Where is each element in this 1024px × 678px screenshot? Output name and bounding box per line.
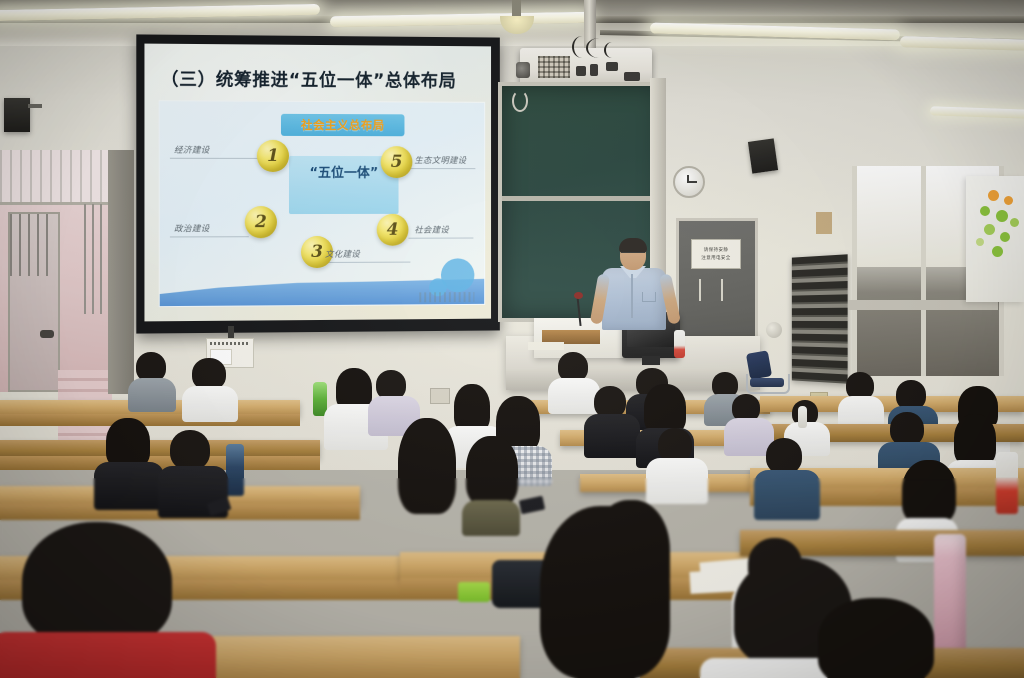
student-head <box>22 522 172 646</box>
slide-banner: 社会主义总布局 <box>281 114 405 136</box>
slide-center-label: “五位一体” <box>309 162 378 181</box>
student-head <box>766 438 802 474</box>
poster-dot <box>984 224 995 235</box>
slide-diagram: 社会主义总布局 “五位一体” 1 2 3 4 <box>159 100 485 307</box>
left-doorway[interactable] <box>0 150 116 392</box>
student-head <box>106 418 150 468</box>
poster-dot <box>996 210 1008 222</box>
wall-poster <box>966 176 1024 302</box>
student-head <box>398 418 456 514</box>
diagram-node-number: 1 <box>267 146 279 166</box>
sign-bracket <box>228 326 234 338</box>
student-torso <box>584 414 640 458</box>
gear-icon <box>445 262 471 288</box>
diagram-label-2: 政治建设 <box>174 222 210 234</box>
pipe-knob <box>766 322 782 338</box>
student-head <box>954 414 996 466</box>
projector-port <box>576 66 586 76</box>
projector-port <box>590 64 598 76</box>
green-tag <box>458 582 490 602</box>
student-torso <box>94 462 164 510</box>
poster-dot <box>988 190 999 201</box>
student-head <box>644 384 686 434</box>
door-sign-line-2: 注意用电安全 <box>701 255 730 261</box>
student-head <box>466 436 518 506</box>
glasses-icon <box>621 252 645 258</box>
diagram-leader-line <box>408 238 473 239</box>
wall-louver-vent <box>792 254 848 383</box>
doorway-grille-transom <box>0 150 112 205</box>
projector-vent <box>538 56 570 78</box>
window-mullion <box>921 166 926 376</box>
monitor-stand <box>642 356 660 365</box>
speaker-icon <box>748 138 778 173</box>
speaker-bracket <box>28 104 42 108</box>
bench-face <box>0 414 300 426</box>
poster-dot <box>976 238 984 246</box>
projection-screen: （三）统筹推进“五位一体”总体布局 社会主义总布局 “五位一体” 1 2 <box>136 34 500 333</box>
diagram-label-5: 生态文明建设 <box>414 154 466 166</box>
student-head <box>540 506 670 678</box>
poster-dot <box>1000 232 1010 242</box>
door-handle[interactable] <box>699 279 701 301</box>
door-handle[interactable] <box>40 330 54 338</box>
door-security-bars <box>10 214 54 276</box>
diagram-node-5: 5 <box>381 146 413 178</box>
diagram-label-1: 经济建设 <box>174 144 210 156</box>
chair-back <box>746 350 772 379</box>
diagram-node-2: 2 <box>245 206 277 238</box>
wall-column <box>108 150 134 394</box>
lecturer <box>596 240 676 340</box>
diagram-node-4: 4 <box>377 214 409 246</box>
office-chair[interactable] <box>742 352 786 396</box>
diagram-label-3: 文化建设 <box>325 248 360 260</box>
student-head <box>902 460 956 524</box>
slide-watermark-logo <box>419 292 474 302</box>
smartphone[interactable] <box>519 496 545 515</box>
projector-cable <box>604 42 620 58</box>
projector-port <box>606 62 618 71</box>
chair-seat <box>750 378 784 387</box>
diagram-node-1: 1 <box>257 140 289 172</box>
clock-minute-hand <box>688 181 697 183</box>
diagram-label-4: 社会建设 <box>414 224 449 236</box>
lecturer-hair <box>619 238 647 253</box>
student-torso <box>0 632 216 678</box>
blue-thermos <box>226 444 244 496</box>
door-handle[interactable] <box>721 279 723 301</box>
microphone-icon <box>574 292 583 299</box>
projector-lens-icon <box>516 62 530 78</box>
student-torso <box>182 386 238 422</box>
projected-slide: （三）统筹推进“五位一体”总体布局 社会主义总布局 “五位一体” 1 2 <box>144 44 491 322</box>
slide-title: （三）统筹推进“五位一体”总体布局 <box>161 66 483 93</box>
notice-text-line <box>210 342 250 345</box>
diagram-node-number: 5 <box>391 152 403 172</box>
diagram-node-number: 2 <box>255 212 267 232</box>
diagram-leader-line <box>170 158 263 159</box>
poster-dot <box>1010 218 1019 227</box>
student-head <box>818 598 934 678</box>
student-torso <box>548 378 600 414</box>
student-head <box>658 428 692 462</box>
slide-banner-text: 社会主义总布局 <box>301 117 385 133</box>
student-head <box>454 384 490 432</box>
pink-thermos <box>934 534 966 664</box>
poster-dot <box>992 246 1003 257</box>
student-torso <box>754 470 820 520</box>
student-torso <box>462 500 520 536</box>
diagram-node-number: 3 <box>311 242 323 262</box>
diagram-leader-line <box>170 236 249 237</box>
student-head <box>890 412 924 446</box>
small-bottle <box>798 406 807 428</box>
lecturer-pocket <box>642 292 656 302</box>
lecture-hall-photo: （三）统筹推进“五位一体”总体布局 社会主义总布局 “五位一体” 1 2 <box>0 0 1024 678</box>
wall-clock <box>673 166 705 198</box>
chalkboard-divider <box>502 196 662 201</box>
diagram-leader-line <box>321 262 410 263</box>
projector-port <box>624 72 640 81</box>
door-sign-line-1: 请保持安静 <box>704 247 729 253</box>
red-cap-bottle <box>996 452 1018 514</box>
chalkboard-hook <box>512 90 528 112</box>
lecturer-placket <box>631 274 633 318</box>
power-outlet[interactable] <box>430 388 450 404</box>
diagram-node-number: 4 <box>387 220 399 240</box>
student-torso <box>646 458 708 504</box>
student-torso <box>128 378 176 412</box>
diagram-leader-line <box>410 168 475 169</box>
chalk-tray <box>528 342 564 350</box>
poster-dot <box>980 206 990 216</box>
poster-dot <box>1004 196 1013 205</box>
student-head <box>170 430 210 470</box>
speaker-icon <box>4 98 30 132</box>
door-sign: 请保持安静 注意用电安全 <box>691 239 741 269</box>
wall-plate <box>816 212 832 234</box>
